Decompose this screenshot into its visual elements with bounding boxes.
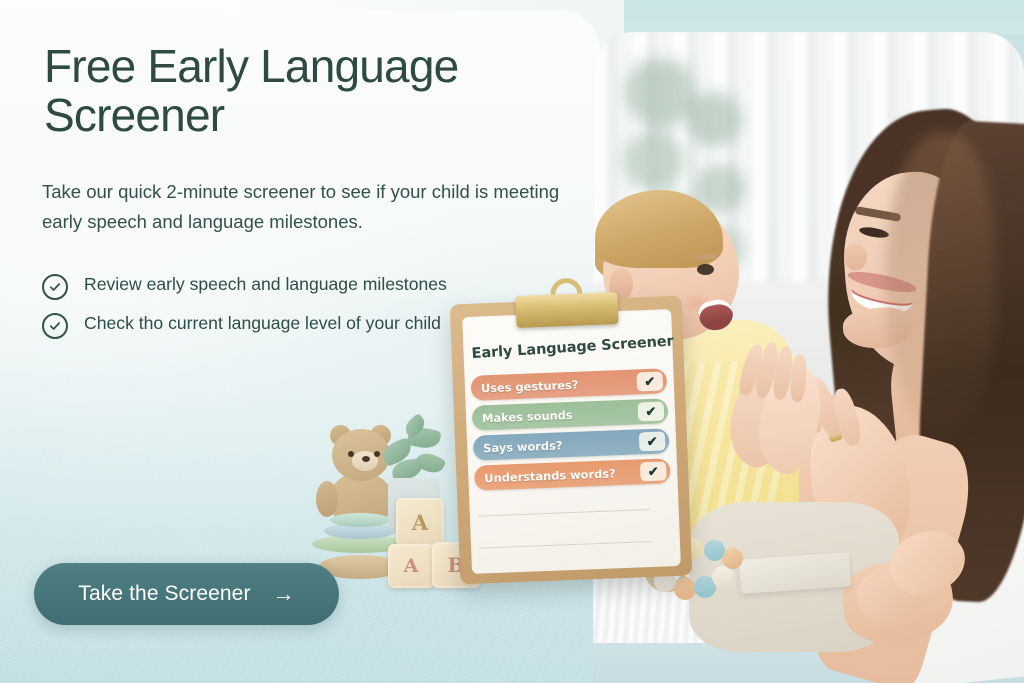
- page-title: Free Early Language Screener: [44, 42, 574, 140]
- list-item-label: Review early speech and language milesto…: [84, 274, 447, 294]
- teether-bead: [712, 566, 734, 588]
- banner-content: Free Early Language Screener Take our qu…: [0, 0, 600, 683]
- checkmark-icon: ✔: [636, 371, 663, 391]
- take-the-screener-button[interactable]: Take the Screener →: [34, 563, 339, 625]
- toddler-eye: [697, 264, 714, 275]
- list-item: Check tho current language level of your…: [42, 311, 482, 336]
- toddler-eyebrow: [695, 254, 717, 259]
- check-circle-icon: [42, 313, 68, 339]
- mother-hair-highlight: [885, 132, 995, 432]
- checkmark-icon: ✔: [640, 461, 667, 481]
- promo-banner: Early Language Screener Uses gestures? ✔…: [0, 0, 1024, 683]
- check-circle-icon: [42, 274, 68, 300]
- teether-bead: [722, 548, 743, 569]
- arrow-right-icon: →: [273, 583, 295, 605]
- checkmark-icon: ✔: [638, 401, 665, 421]
- subheadline: Take our quick 2-minute screener to see …: [42, 177, 602, 237]
- teether-bead: [704, 540, 725, 561]
- list-item-label: Check tho current language level of your…: [84, 313, 441, 333]
- teether-bead: [674, 578, 696, 600]
- benefit-list: Review early speech and language milesto…: [42, 272, 482, 350]
- checkmark-icon: ✔: [639, 431, 666, 451]
- cta-label: Take the Screener: [78, 582, 250, 606]
- list-item: Review early speech and language milesto…: [42, 272, 482, 297]
